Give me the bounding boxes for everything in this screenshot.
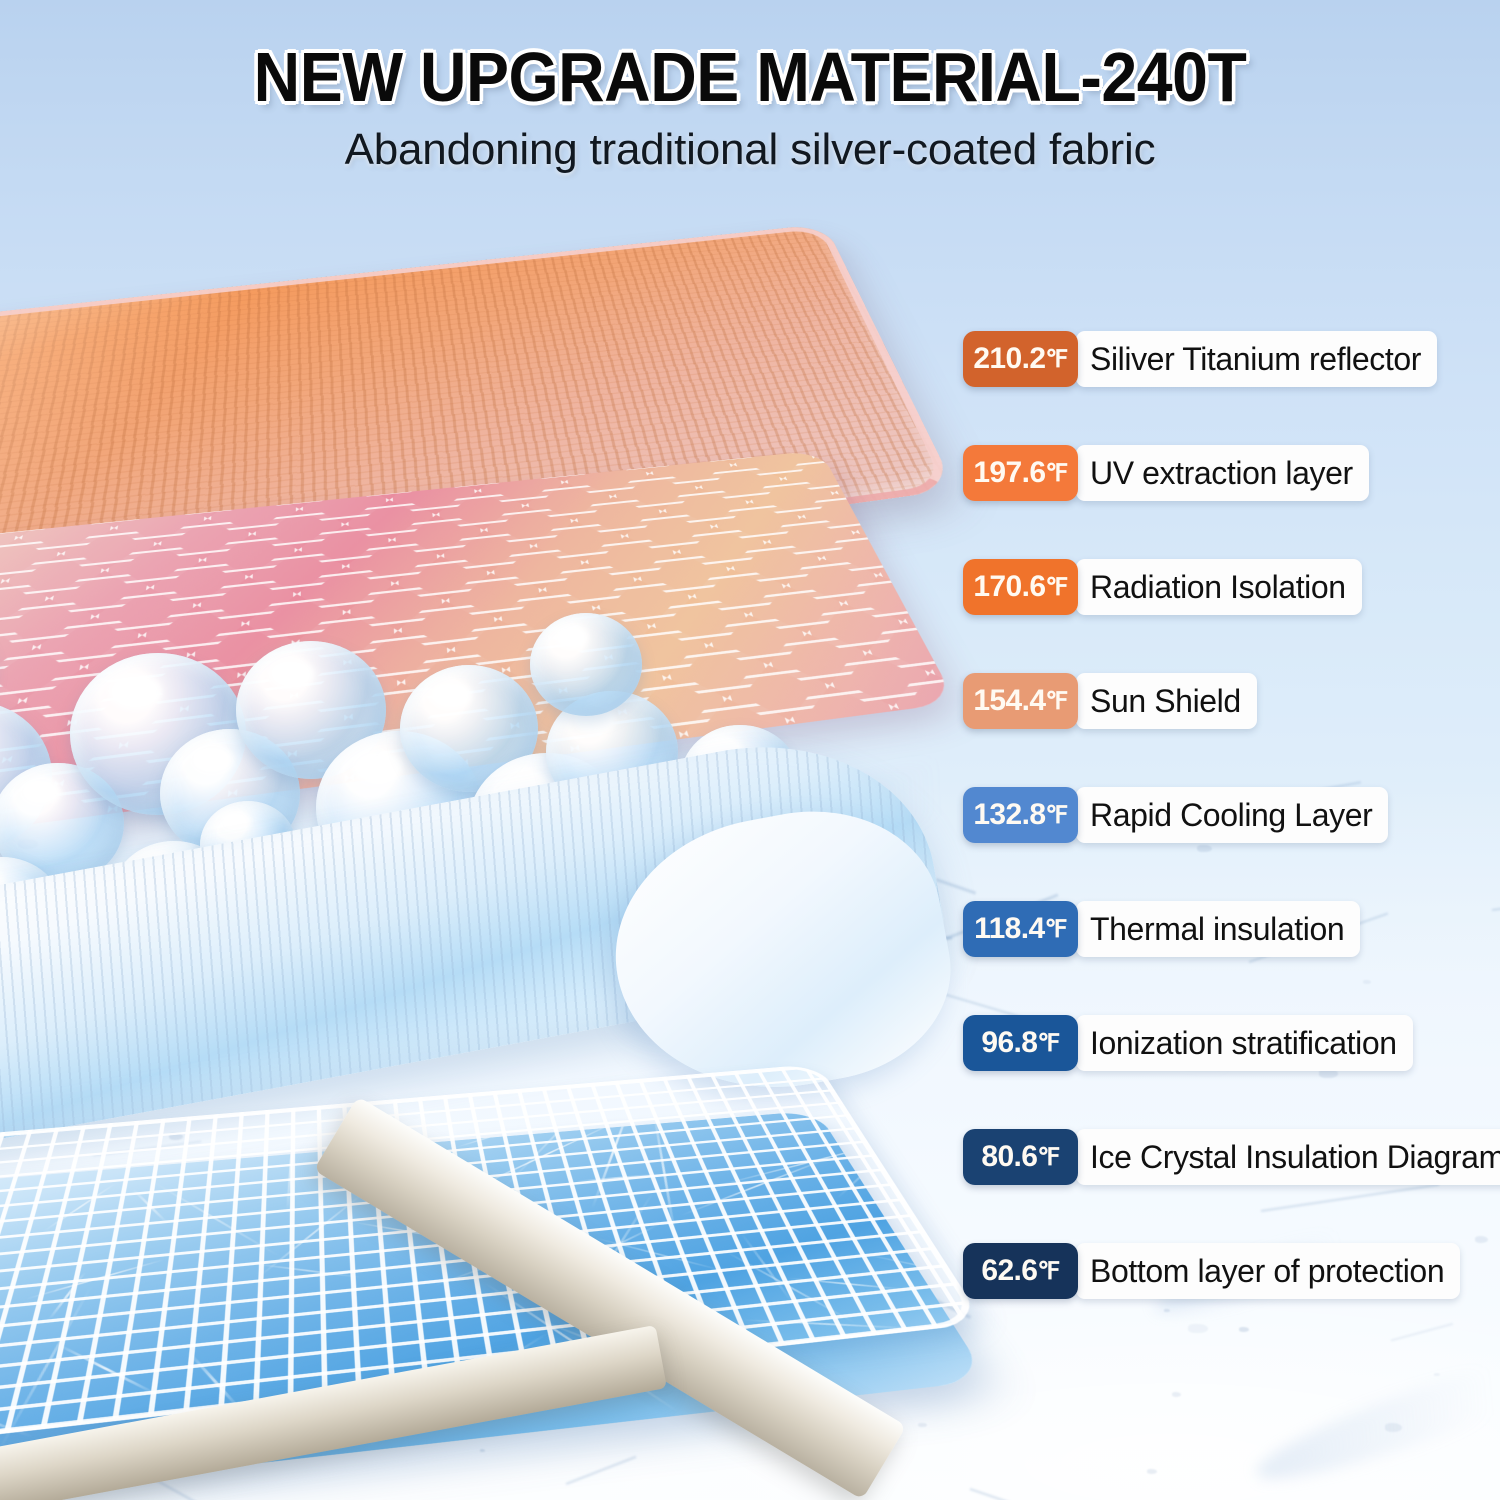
degree-fahrenheit-icon: ℉ xyxy=(1045,915,1067,944)
layer-label-pill: UV extraction layer xyxy=(1076,445,1369,501)
legend-row: 210.2℉Siliver Titanium reflector xyxy=(963,331,1483,387)
temperature-chip: 96.8℉ xyxy=(963,1015,1078,1071)
ice-streak xyxy=(1249,1332,1500,1497)
legend-row: 118.4℉Thermal insulation xyxy=(963,901,1483,957)
degree-fahrenheit-icon: ℉ xyxy=(1037,1257,1059,1286)
temperature-value: 80.6 xyxy=(981,1140,1037,1174)
temperature-chip: 132.8℉ xyxy=(963,787,1078,843)
temperature-chip: 154.4℉ xyxy=(963,673,1078,729)
degree-fahrenheit-icon: ℉ xyxy=(1045,687,1067,716)
legend-row: 132.8℉Rapid Cooling Layer xyxy=(963,787,1483,843)
temperature-chip: 62.6℉ xyxy=(963,1243,1078,1299)
temperature-value: 132.8 xyxy=(973,798,1045,832)
legend-row: 96.8℉Ionization stratification xyxy=(963,1015,1483,1071)
layer-label-pill: Sun Shield xyxy=(1076,673,1257,729)
temperature-value: 96.8 xyxy=(981,1026,1037,1060)
page-title: NEW UPGRADE MATERIAL-240T xyxy=(60,42,1440,113)
temperature-chip: 197.6℉ xyxy=(963,445,1078,501)
temperature-value: 197.6 xyxy=(973,456,1045,490)
snow-fleck xyxy=(1239,1327,1249,1332)
layer-label-pill: Ice Crystal Insulation Diagram xyxy=(1076,1129,1500,1185)
infographic-canvas: NEW UPGRADE MATERIAL-240T Abandoning tra… xyxy=(0,0,1500,1500)
legend-row: 80.6℉Ice Crystal Insulation Diagram xyxy=(963,1129,1483,1185)
ice-crack xyxy=(1390,1323,1452,1341)
temperature-value: 154.4 xyxy=(973,684,1045,718)
temperature-chip: 118.4℉ xyxy=(963,901,1078,957)
insulation-sphere xyxy=(530,613,642,716)
ice-streak xyxy=(1474,1428,1500,1500)
temperature-value: 62.6 xyxy=(981,1254,1037,1288)
degree-fahrenheit-icon: ℉ xyxy=(1045,459,1067,488)
layer-label-pill: Siliver Titanium reflector xyxy=(1076,331,1437,387)
legend-row: 197.6℉UV extraction layer xyxy=(963,445,1483,501)
degree-fahrenheit-icon: ℉ xyxy=(1045,573,1067,602)
legend-row: 154.4℉Sun Shield xyxy=(963,673,1483,729)
ice-crack xyxy=(1492,898,1500,910)
snow-fleck xyxy=(1164,1309,1170,1312)
temperature-value: 118.4 xyxy=(974,912,1044,946)
degree-fahrenheit-icon: ℉ xyxy=(1045,801,1067,830)
temperature-chip: 80.6℉ xyxy=(963,1129,1078,1185)
temperature-legend-list: 210.2℉Siliver Titanium reflector197.6℉UV… xyxy=(963,331,1483,1299)
layer-label-pill: Bottom layer of protection xyxy=(1076,1243,1460,1299)
temperature-value: 210.2 xyxy=(973,342,1045,376)
layer-label-pill: Rapid Cooling Layer xyxy=(1076,787,1388,843)
temperature-value: 170.6 xyxy=(973,570,1045,604)
snow-fleck xyxy=(1434,1373,1440,1376)
layer-label-pill: Thermal insulation xyxy=(1076,901,1360,957)
fabric-layers-illustration xyxy=(0,175,1010,1500)
degree-fahrenheit-icon: ℉ xyxy=(1037,1029,1059,1058)
snow-fleck xyxy=(1172,1392,1181,1396)
snow-fleck xyxy=(1147,1469,1157,1474)
header-block: NEW UPGRADE MATERIAL-240T Abandoning tra… xyxy=(0,42,1500,175)
legend-row: 170.6℉Radiation Isolation xyxy=(963,559,1483,615)
degree-fahrenheit-icon: ℉ xyxy=(1037,1143,1059,1172)
degree-fahrenheit-icon: ℉ xyxy=(1045,345,1067,374)
layer-label-pill: Ionization stratification xyxy=(1076,1015,1413,1071)
page-subtitle: Abandoning traditional silver-coated fab… xyxy=(0,125,1500,175)
temperature-chip: 170.6℉ xyxy=(963,559,1078,615)
layer-label-pill: Radiation Isolation xyxy=(1076,559,1362,615)
temperature-chip: 210.2℉ xyxy=(963,331,1078,387)
snow-fleck xyxy=(1188,1324,1208,1334)
legend-row: 62.6℉Bottom layer of protection xyxy=(963,1243,1483,1299)
